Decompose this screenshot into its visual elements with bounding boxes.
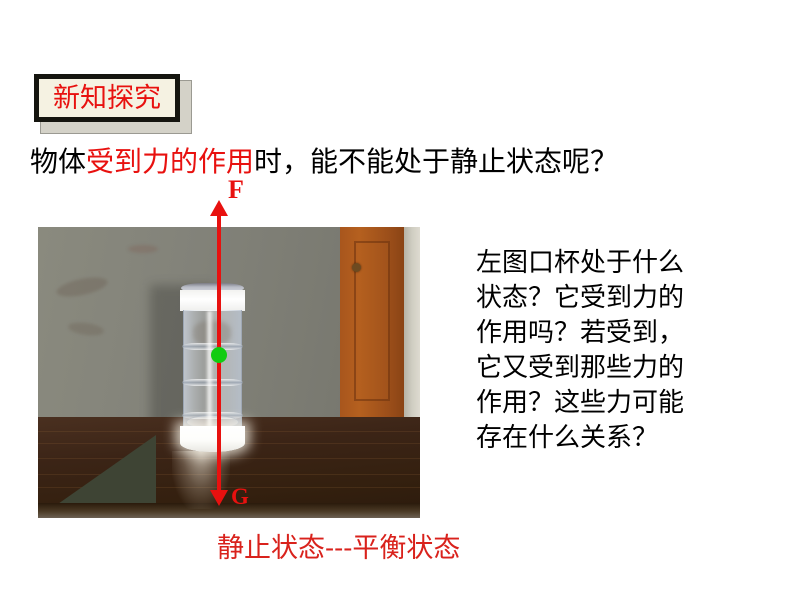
force-down-arrow-shaft xyxy=(217,355,221,495)
door-knob-icon xyxy=(352,263,361,272)
section-title-badge: 新知探究 xyxy=(34,74,186,128)
discussion-question-block: 左图口杯处于什么 状态？它受到力的 作用吗？若受到， 它又受到那些力的 作用？这… xyxy=(476,246,776,456)
discussion-line: 左图口杯处于什么 xyxy=(476,246,776,281)
discussion-line: 作用吗？若受到， xyxy=(476,316,776,351)
cup-specular-highlight xyxy=(205,311,214,427)
discussion-line: 它又受到那些力的 xyxy=(476,351,776,386)
question-part-3: 时，能不能处于静止状态呢？ xyxy=(254,145,618,178)
force-down-label: G xyxy=(231,485,249,508)
question-part-1: 物体 xyxy=(30,145,86,178)
discussion-line: 作用？这些力可能 xyxy=(476,386,776,421)
cup-top-collar xyxy=(180,290,245,311)
cup-base xyxy=(180,426,245,452)
title-badge-label: 新知探究 xyxy=(53,85,161,112)
discussion-line: 状态？它受到力的 xyxy=(476,281,776,316)
wall-smudge-icon xyxy=(128,245,158,253)
title-badge-box: 新知探究 xyxy=(34,74,180,122)
question-line: 物体受到力的作用时，能不能处于静止状态呢？ xyxy=(30,143,618,181)
force-up-arrow-shaft xyxy=(217,213,221,361)
discussion-line: 存在什么关系？ xyxy=(476,421,776,456)
force-down-arrowhead-icon xyxy=(210,490,228,506)
force-up-label: F xyxy=(228,177,244,203)
question-part-2-highlight: 受到力的作用 xyxy=(86,145,254,178)
door-frame-edge xyxy=(404,227,420,427)
slide-canvas: 新知探究 物体受到力的作用时，能不能处于静止状态呢？ xyxy=(0,0,800,600)
experiment-photo xyxy=(38,227,420,518)
transparent-cup xyxy=(179,283,246,455)
conclusion-caption: 静止状态---平衡状态 xyxy=(217,533,460,565)
center-of-gravity-dot-icon xyxy=(211,347,227,363)
wooden-door xyxy=(340,227,404,417)
